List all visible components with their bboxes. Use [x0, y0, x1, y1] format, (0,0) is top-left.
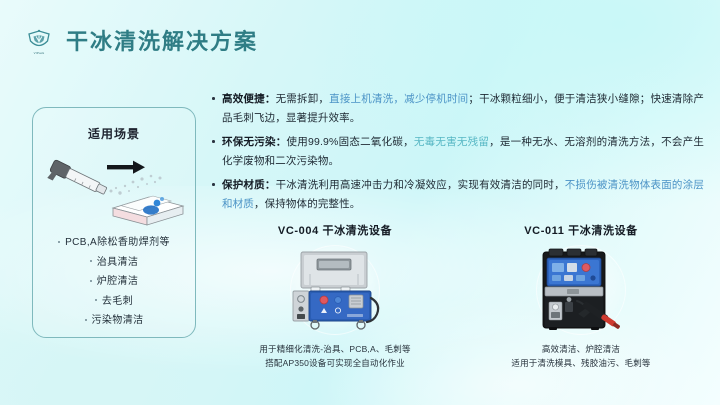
logo-caption: VIPack	[34, 52, 45, 55]
feature-bullet: 高效便捷：无需拆卸，直接上机清洗，减少停机时间；干冰颗粒细小，便于清洁狭小缝隙；…	[212, 90, 704, 127]
product-showcase: VC-004 干冰清洗设备	[212, 222, 704, 370]
feature-bullet-lead: 保护材质：	[222, 179, 276, 191]
feature-bullet-highlight: 直接上机清洗，减少停机时间	[329, 93, 468, 105]
feature-bullet-lead: 环保无污染：	[222, 136, 287, 148]
list-item-label: 治具清洁	[97, 257, 139, 268]
vc-004-machine-photo	[269, 242, 401, 338]
product-caption-line2: 适用于清洗模具、残胶油污、毛刺等	[511, 357, 650, 371]
feature-bullet-seg: ，保持物体的完整性。	[254, 198, 361, 210]
list-item: 污染物清洁	[33, 311, 195, 331]
feature-bullet-seg: 干冰清洗利用高速冲击力和冷凝效应，实现有效清洁的同时，	[276, 179, 565, 191]
bullet-dot-icon	[212, 133, 222, 143]
bullet-dot-icon	[212, 90, 222, 100]
list-item: 炉腔清洁	[33, 272, 195, 292]
product-caption: 用于精细化清洗-治具、PCB,A、毛刺等 搭配AP350设备可实现全自动化作业	[259, 343, 410, 370]
list-item: 去毛刺	[33, 292, 195, 312]
product-caption-line1: 用于精细化清洗-治具、PCB,A、毛刺等	[259, 343, 410, 357]
feature-bullet-list: 高效便捷：无需拆卸，直接上机清洗，减少停机时间；干冰颗粒细小，便于清洁狭小缝隙；…	[212, 90, 704, 219]
list-item: PCB,A除松香助焊剂等	[33, 233, 195, 253]
feature-bullet-seg: 使用99.9%固态二氧化碳，	[287, 136, 414, 148]
list-item-label: 污染物清洁	[92, 315, 144, 326]
product-title: VC-004 干冰清洗设备	[278, 222, 392, 238]
slide-canvas: VIPack 干冰清洗解决方案 适用场景	[0, 0, 720, 405]
scene-panel-title: 适用场景	[33, 125, 195, 142]
bullet-dot-icon	[212, 176, 222, 186]
scene-panel: 适用场景	[32, 107, 196, 338]
feature-bullet-highlight: 无毒无害无残留	[414, 136, 489, 148]
bullet-dot-icon	[90, 260, 92, 262]
dry-ice-nozzle-spraying-pcb	[41, 148, 187, 226]
page-title: 干冰清洗解决方案	[66, 31, 258, 53]
feature-bullet-text: 保护材质：干冰清洗利用高速冲击力和冷凝效应，实现有效清洁的同时，不损伤被清洗物体…	[222, 176, 704, 213]
product-title: VC-011 干冰清洗设备	[524, 222, 638, 238]
bullet-dot-icon	[85, 319, 87, 321]
arrow-icon	[107, 161, 145, 174]
feature-bullet-lead: 高效便捷：	[222, 93, 276, 105]
bullet-dot-icon	[58, 241, 60, 243]
vc-011-machine-photo	[515, 242, 647, 338]
product-caption-line1: 高效清洁、炉腔清洁	[511, 343, 650, 357]
list-item-label: 炉腔清洁	[97, 276, 139, 287]
company-crest-logo: VIPack	[24, 26, 54, 58]
feature-bullet: 保护材质：干冰清洗利用高速冲击力和冷凝效应，实现有效清洁的同时，不损伤被清洗物体…	[212, 176, 704, 213]
product-card-vc-004: VC-004 干冰清洗设备	[212, 222, 458, 370]
list-item-label: 去毛刺	[102, 296, 133, 307]
list-item: 治具清洁	[33, 253, 195, 273]
slide-header: VIPack 干冰清洗解决方案	[24, 26, 258, 58]
bullet-dot-icon	[95, 299, 97, 301]
product-card-vc-011: VC-011 干冰清洗设备	[458, 222, 704, 370]
feature-bullet: 环保无污染：使用99.9%固态二氧化碳，无毒无害无残留，是一种无水、无溶剂的清洗…	[212, 133, 704, 170]
feature-bullet-seg: 无需拆卸，	[276, 93, 330, 105]
product-caption-line2: 搭配AP350设备可实现全自动化作业	[259, 357, 410, 371]
scene-item-list: PCB,A除松香助焊剂等 治具清洁 炉腔清洁 去毛刺 污染物清洁	[33, 233, 195, 331]
feature-bullet-text: 高效便捷：无需拆卸，直接上机清洗，减少停机时间；干冰颗粒细小，便于清洁狭小缝隙；…	[222, 90, 704, 127]
product-caption: 高效清洁、炉腔清洁 适用于清洗模具、残胶油污、毛刺等	[511, 343, 650, 370]
list-item-label: PCB,A除松香助焊剂等	[65, 237, 170, 248]
bullet-dot-icon	[90, 280, 92, 282]
feature-bullet-text: 环保无污染：使用99.9%固态二氧化碳，无毒无害无残留，是一种无水、无溶剂的清洗…	[222, 133, 704, 170]
